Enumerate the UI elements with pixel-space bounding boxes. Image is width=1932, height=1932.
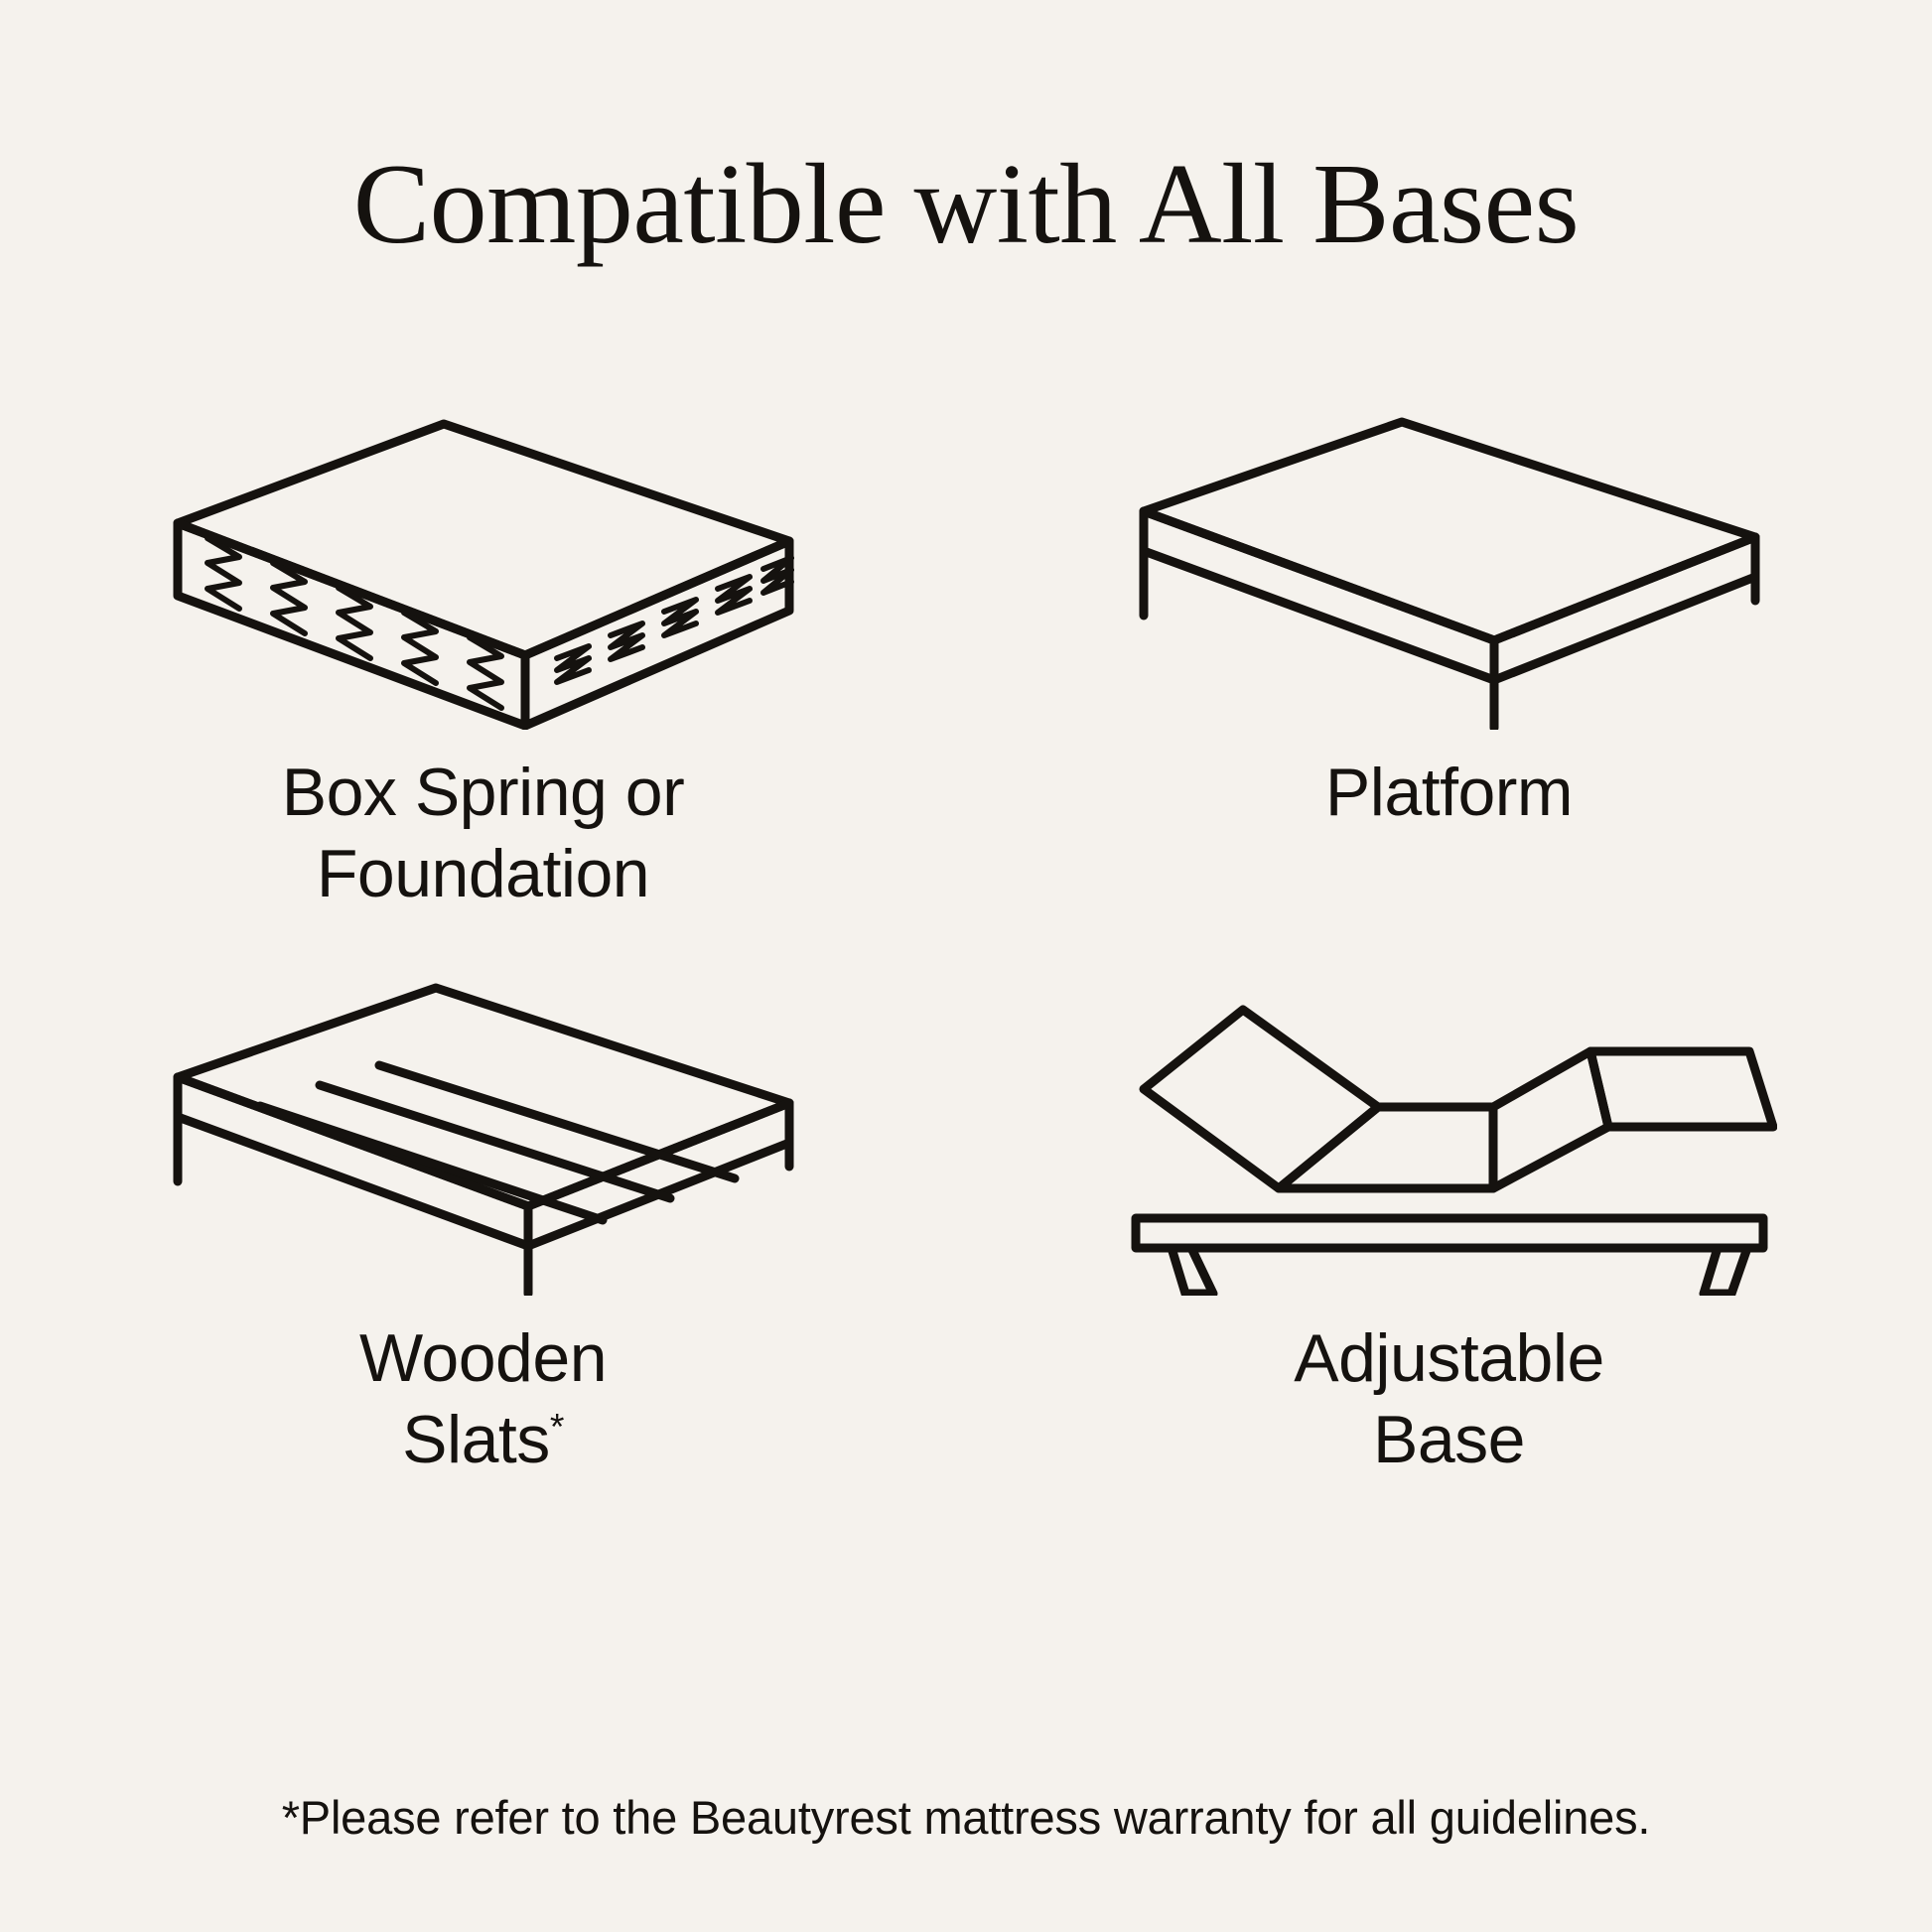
base-card-platform: Platform — [966, 387, 1932, 943]
base-label-box-spring: Box Spring or Foundation — [0, 753, 966, 914]
base-label-text: Slats — [402, 1402, 550, 1477]
platform-base-icon — [1122, 412, 1777, 730]
adjustable-foot-panel — [1590, 1051, 1773, 1127]
adjustable-base-icon — [1122, 978, 1777, 1296]
base-label-line-1: Adjustable — [966, 1318, 1932, 1400]
adjustable-frame-bar — [1136, 1218, 1763, 1248]
base-label-platform: Platform — [966, 753, 1932, 834]
base-label-adjustable: Adjustable Base — [966, 1318, 1932, 1480]
compatible-bases-infographic: Compatible with All Bases — [0, 0, 1932, 1932]
wooden-slats-art — [0, 953, 966, 1320]
base-label-line-2: Foundation — [0, 834, 966, 915]
base-label-line-1: Platform — [966, 753, 1932, 834]
adjustable-head-panel — [1144, 1010, 1378, 1188]
wooden-slats-icon — [156, 978, 811, 1296]
box-spring-foundation-art — [0, 387, 966, 755]
adjustable-leg-right — [1704, 1248, 1747, 1294]
adjustable-seat-panel — [1279, 1107, 1493, 1188]
base-card-wooden-slats: Wooden Slats* — [0, 953, 966, 1509]
footnote-marker: * — [550, 1405, 564, 1447]
base-label-line-2: Slats* — [0, 1400, 966, 1481]
page-title: Compatible with All Bases — [0, 139, 1932, 271]
adjustable-base-art — [966, 953, 1932, 1320]
platform-top-face — [1144, 422, 1755, 640]
box-right-face — [525, 541, 789, 726]
slats-left-apron — [178, 1077, 528, 1246]
base-label-line-1: Box Spring or — [0, 753, 966, 834]
platform-right-apron — [1494, 537, 1755, 680]
bases-grid: Box Spring or Foundation — [0, 387, 1932, 1727]
platform-left-apron — [1144, 511, 1494, 680]
platform-base-art — [966, 387, 1932, 755]
base-label-line-2: Base — [966, 1400, 1932, 1481]
base-label-wooden-slats: Wooden Slats* — [0, 1318, 966, 1480]
adjustable-leg-left — [1172, 1248, 1213, 1294]
base-card-box-spring: Box Spring or Foundation — [0, 387, 966, 943]
box-top-face — [178, 424, 789, 655]
box-spring-foundation-icon — [156, 412, 811, 730]
base-label-line-1: Wooden — [0, 1318, 966, 1400]
base-card-adjustable: Adjustable Base — [966, 953, 1932, 1509]
warranty-footnote: *Please refer to the Beautyrest mattress… — [0, 1790, 1932, 1845]
